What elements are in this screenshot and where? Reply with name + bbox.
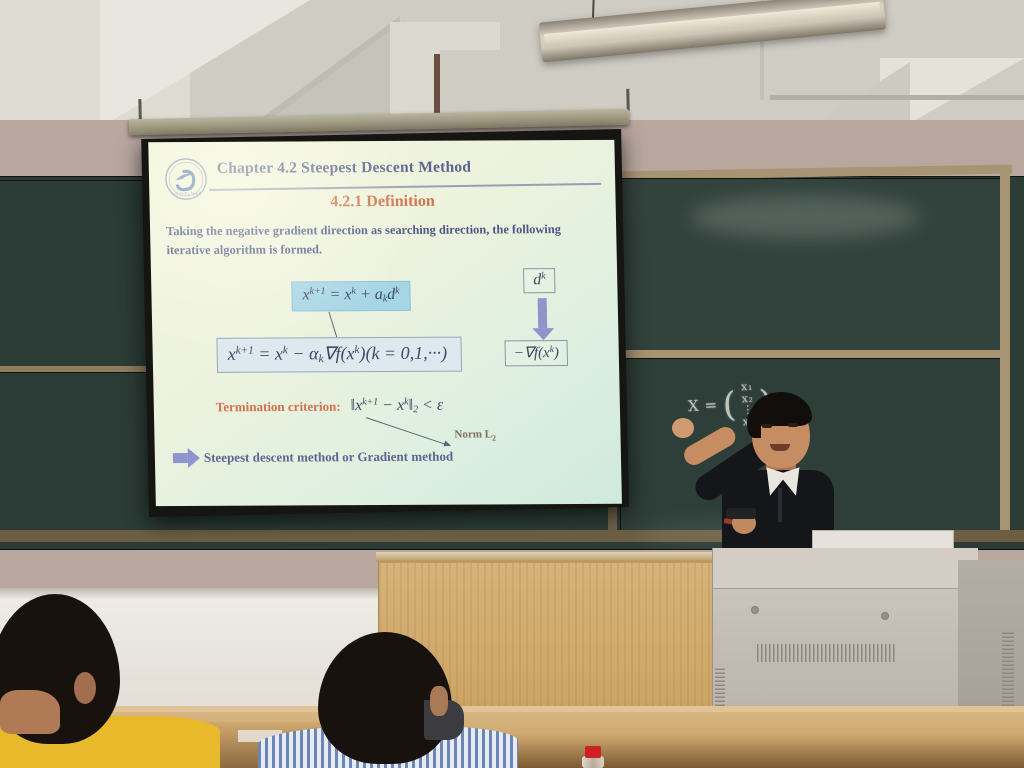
lecturer-hand-pointing <box>672 418 694 438</box>
summary-bullet-row: Steepest descent method or Gradient meth… <box>173 449 454 466</box>
podium-screw-left <box>751 606 759 614</box>
podium-top-surface <box>713 548 978 589</box>
lecturer-eye-left <box>762 424 772 428</box>
equation-box-2: xk+1 = xk − αk∇f(xk)(k = 0,1,···) <box>216 337 462 373</box>
screen-hook-right <box>626 89 629 111</box>
equation-2-rendered: xk+1 = xk − αk∇f(xk)(k = 0,1,···) <box>228 343 448 364</box>
lecture-slide: \u5927\u5b66 Chapter 4.2 Steepest Descen… <box>148 140 622 506</box>
podium-screw-right <box>881 612 889 620</box>
blackboard-rail-right <box>616 350 1008 358</box>
slide-heading: 4.2.1 Definition <box>149 192 615 212</box>
projection-screen: \u5927\u5b66 Chapter 4.2 Steepest Descen… <box>141 119 629 517</box>
negative-gradient-rendered: −∇f(xk) <box>514 345 559 361</box>
student-front-center-ear <box>430 686 448 716</box>
lecture-hall-photo: X = ( x₁ x₂ ⋮ xₙ ) <box>0 0 1024 768</box>
podium-vent <box>757 644 897 662</box>
right-arrow-bullet-icon <box>173 453 188 463</box>
summary-bullet-text: Steepest descent method or Gradient meth… <box>204 449 454 466</box>
screen-hook-left <box>138 99 141 121</box>
presentation-remote <box>726 508 756 519</box>
termination-equation-rendered: ‖xk+1 − xk‖2 < ε <box>350 397 443 414</box>
equation-box-1: xk+1 = xk + akdk <box>291 281 411 312</box>
chalk-smudge <box>690 195 920 239</box>
lecturer-eye-right <box>788 423 798 427</box>
norm-annotation: Norm L2 <box>454 428 496 442</box>
dk-rendered: dk <box>533 272 546 289</box>
norm-connector <box>366 417 450 446</box>
side-box-dk: dk <box>523 268 556 294</box>
bottle-cap-3 <box>585 746 601 758</box>
termination-criterion-row: Termination criterion: ‖xk+1 − xk‖2 < ε <box>216 397 444 417</box>
slide-body-text: Taking the negative gradient direction a… <box>166 220 597 261</box>
lecturer-sideburn <box>747 408 761 438</box>
student-front-left-ear <box>74 672 96 704</box>
title-underline <box>209 183 601 191</box>
student-front-left-face-edge <box>0 690 60 734</box>
down-arrow-icon <box>538 298 548 328</box>
side-box-negative-gradient: −∇f(xk) <box>504 340 568 366</box>
termination-label: Termination criterion: <box>216 399 341 415</box>
lecturer-shirt-placket <box>778 488 782 522</box>
equation-1-rendered: xk+1 = xk + akdk <box>302 286 399 304</box>
screen-frame: \u5927\u5b66 Chapter 4.2 Steepest Descen… <box>141 129 629 517</box>
blackboard-frame-right <box>1000 168 1010 538</box>
slide-title: Chapter 4.2 Steepest Descent Method <box>217 159 472 178</box>
chalk-x-equals: X = <box>688 396 718 416</box>
